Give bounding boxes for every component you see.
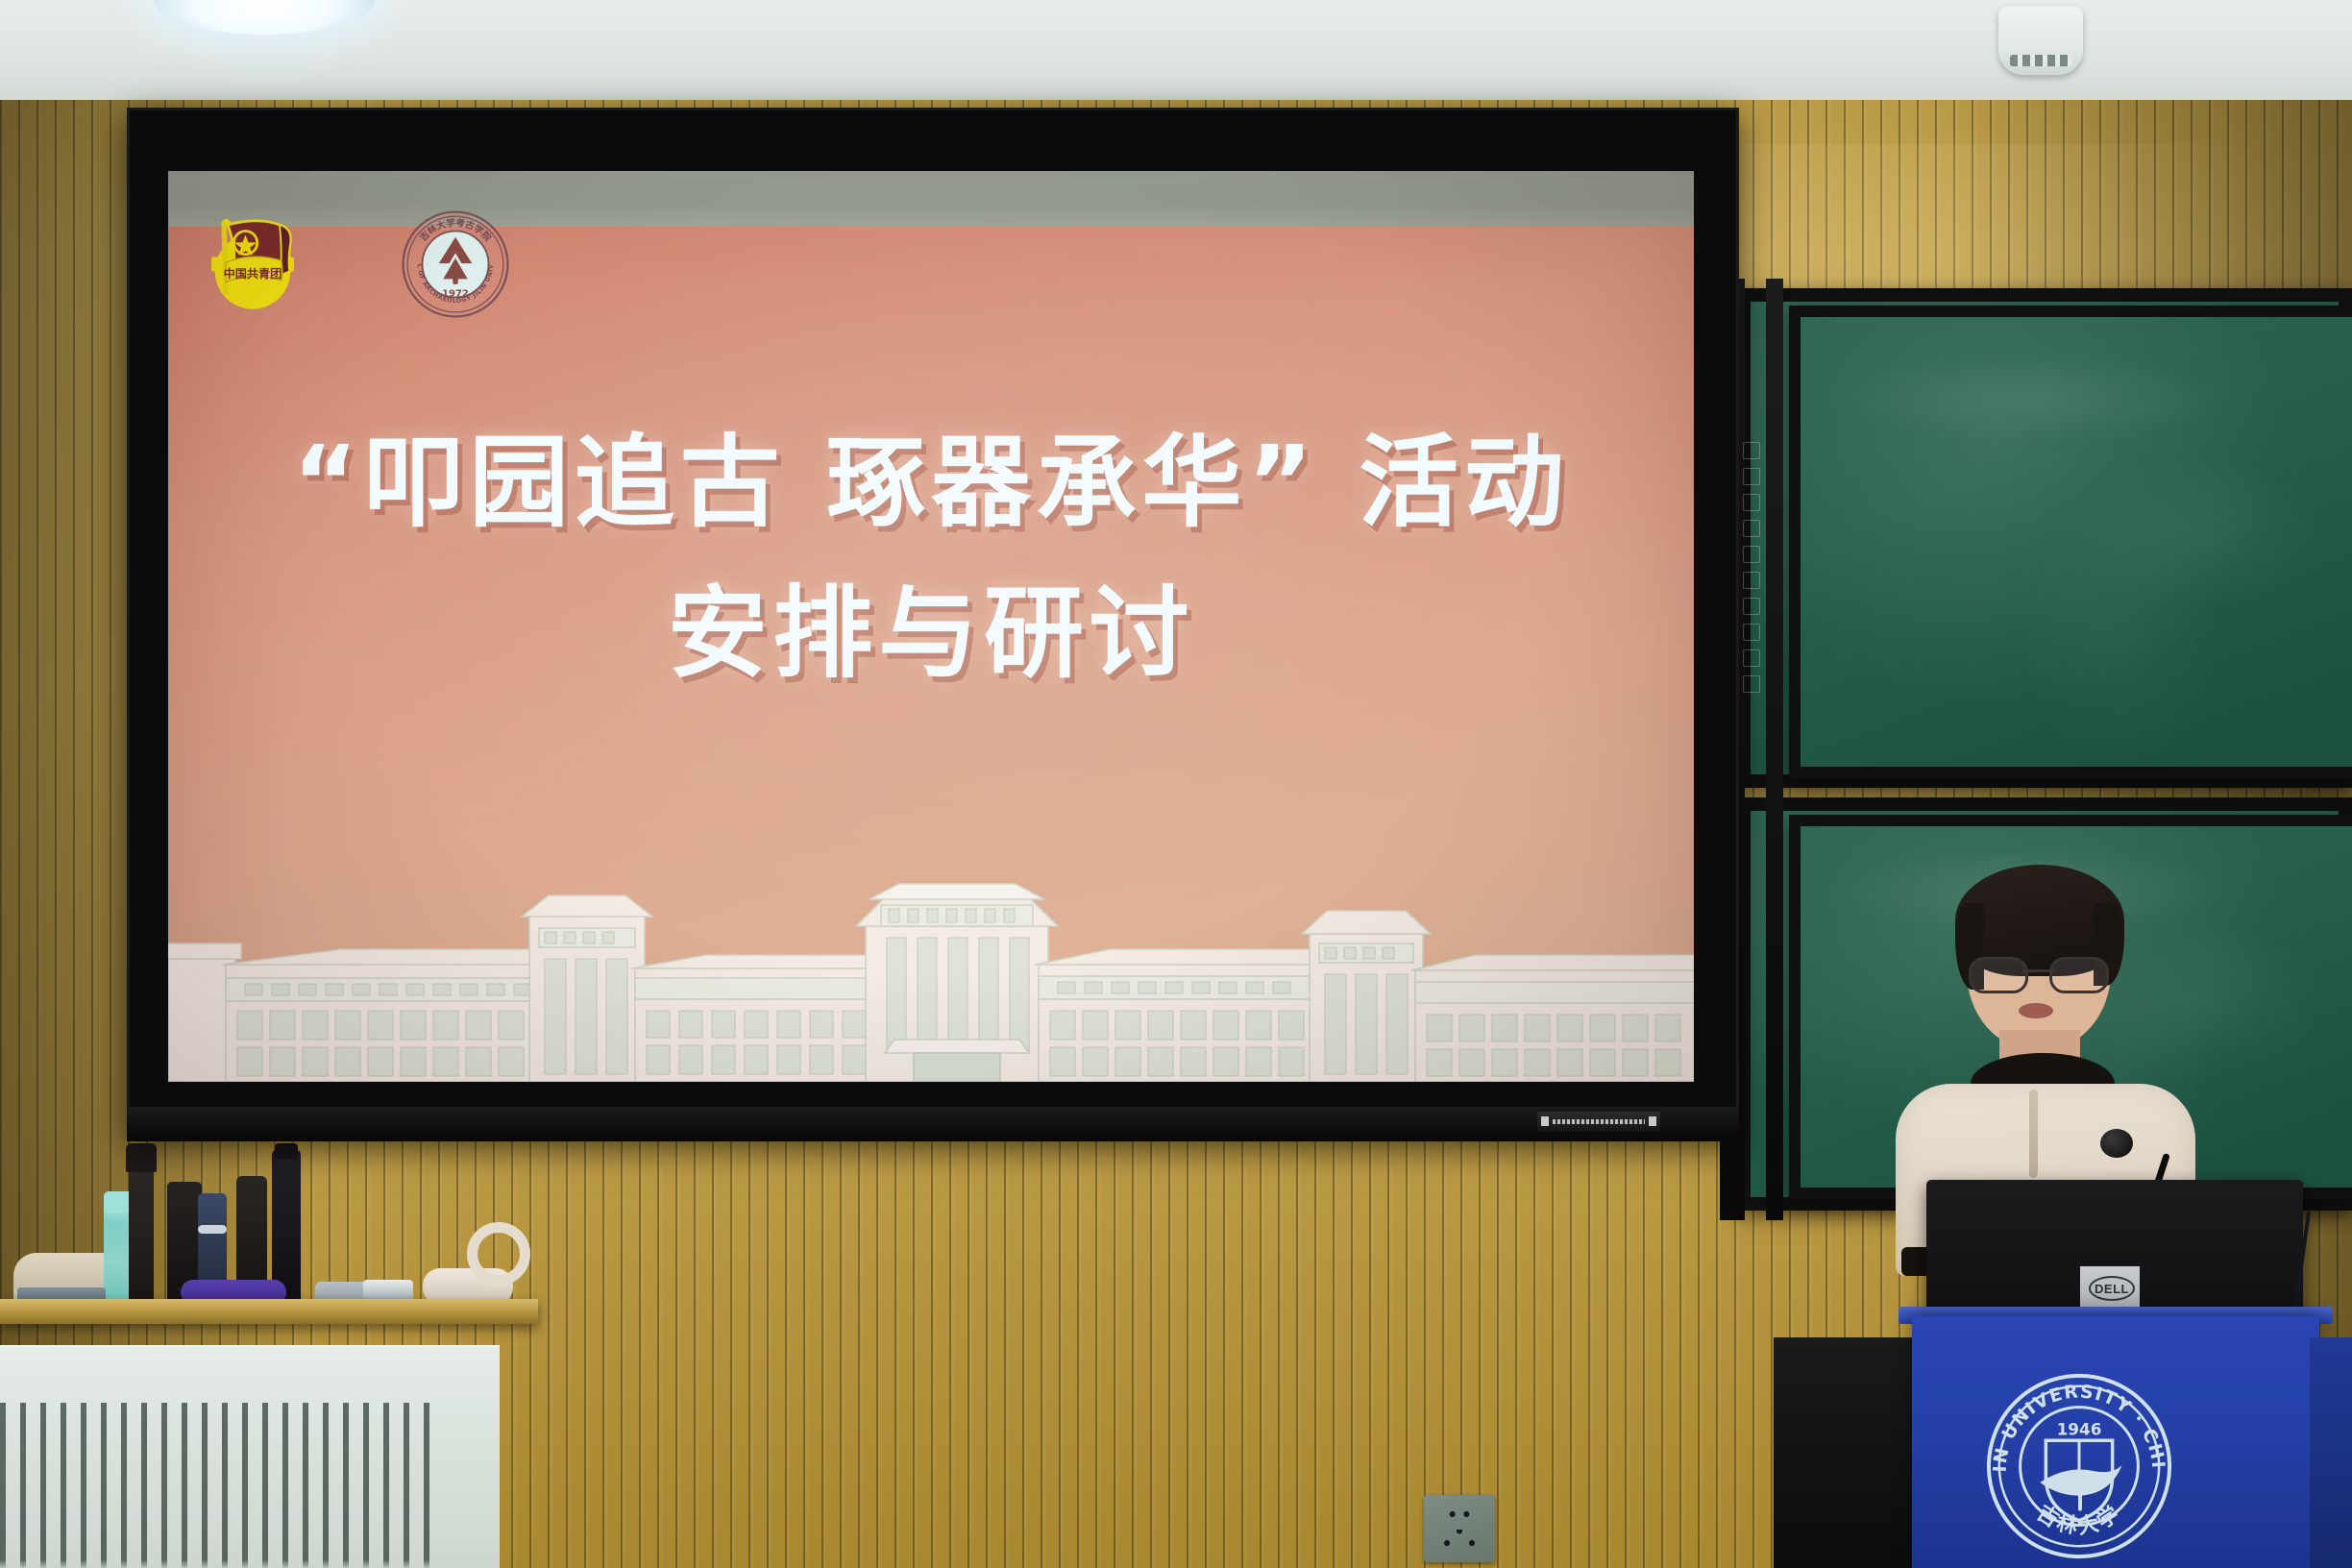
radiator-cover (0, 1345, 500, 1568)
control-icon-8[interactable] (1743, 675, 1760, 693)
wall-power-outlet[interactable] (1424, 1495, 1495, 1562)
svg-text:中国共青团: 中国共青团 (224, 266, 282, 281)
control-icon-4[interactable] (1743, 520, 1760, 537)
dell-logo: DELL (2089, 1276, 2135, 1301)
jilin-university-archaeology-seal-icon: 1972 吉林大学考古学院 SCHOOL OF ARCHAEOLOGY JILI… (399, 208, 512, 321)
campus-building-line-art (168, 842, 1694, 1082)
blue-thermos-band (198, 1225, 227, 1234)
eyeglasses-icon (1967, 957, 2111, 990)
thermos-handle (126, 1143, 157, 1172)
black-thermos (129, 1159, 154, 1305)
jilin-university-seal-icon: 1946 JILIN UNIVERSITY · CHINA 吉林大学 (1979, 1366, 2179, 1566)
control-icon-3[interactable] (1743, 494, 1760, 511)
lecture-hall-scene: 中国共青团 (0, 0, 2352, 1568)
podium-side-panel-left (1774, 1337, 1918, 1568)
ceiling (0, 0, 2352, 108)
smoke-detector-icon (1998, 6, 2083, 75)
control-icon-7[interactable] (1743, 649, 1760, 667)
presenter-mouth (2019, 1003, 2053, 1018)
communist-youth-league-emblem-icon: 中国共青团 (199, 210, 306, 318)
microphone-head-icon (2100, 1129, 2133, 1158)
chalkboard-slide-rail-right[interactable] (1766, 279, 1783, 1220)
chalkboard-panel-top-right (1789, 306, 2352, 778)
slide-title-block: “叩园追古 琢器承华” 活动 安排与研讨 (168, 419, 1694, 699)
slide-title-line-2: 安排与研讨 (168, 568, 1694, 699)
control-icon-2[interactable] (1743, 468, 1760, 485)
shelf-items-group (0, 1139, 538, 1305)
control-icon-1[interactable] (1743, 442, 1760, 459)
projection-screen-bottom-bar (127, 1107, 1739, 1141)
slide-title-line-1: “叩园追古 琢器承华” 活动 (168, 419, 1694, 547)
projection-screen-brand-label (1537, 1112, 1660, 1131)
headphone-ear-cup (467, 1222, 530, 1286)
svg-text:1946: 1946 (2057, 1419, 2102, 1438)
wooden-shelf (0, 1299, 538, 1324)
control-icon-prev[interactable] (1743, 546, 1760, 563)
control-icon-6[interactable] (1743, 624, 1760, 641)
sweatshirt-zipper (2029, 1090, 2038, 1178)
black-bottle-cap (275, 1143, 298, 1159)
recessed-light-on-icon (154, 0, 375, 35)
podium-side-panel-right (2310, 1337, 2352, 1568)
slide-logos: 中国共青团 (199, 208, 512, 321)
projected-slide: 中国共青团 (168, 171, 1694, 1082)
control-icon-5[interactable] (1743, 598, 1760, 615)
chalkboard-control-icons[interactable] (1741, 442, 1762, 693)
control-icon-next[interactable] (1743, 572, 1760, 589)
radiator-slots (0, 1403, 442, 1568)
